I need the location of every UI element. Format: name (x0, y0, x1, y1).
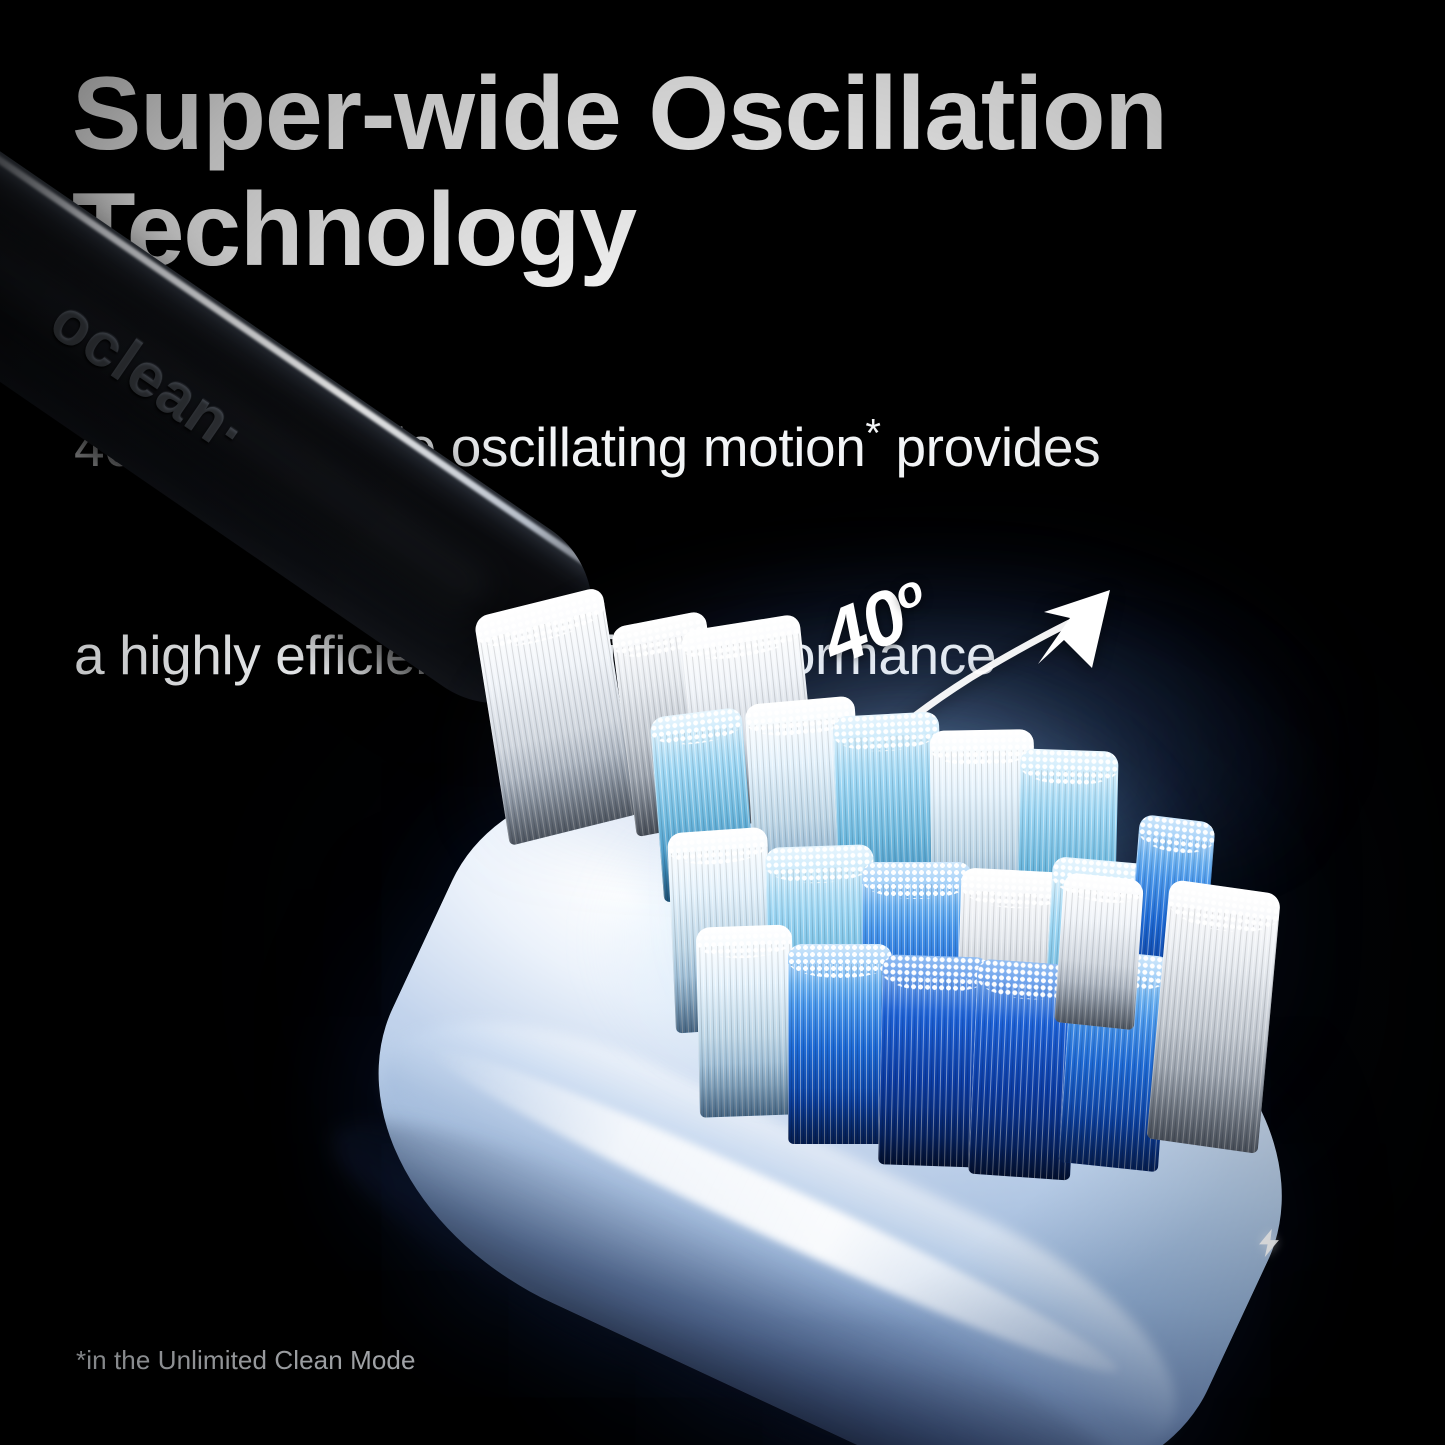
footnote-text: *in the Unlimited Clean Mode (76, 1345, 416, 1376)
bristle-tuft (1054, 872, 1144, 1030)
lightning-bolt-icon (1252, 1226, 1286, 1260)
subtitle-line-1-tail: provides (881, 416, 1101, 478)
bristle-shading (1147, 879, 1282, 1154)
bristle-shading (696, 924, 796, 1117)
bristle-tuft (696, 924, 796, 1117)
bristle-tuft (1147, 879, 1282, 1154)
footnote-marker: * (865, 412, 880, 456)
bristle-shading (1054, 872, 1144, 1030)
bristle-tuft (788, 944, 892, 1144)
bristle-shading (788, 944, 892, 1144)
product-feature-banner: Super-wide Oscillation Technology 40° su… (0, 0, 1445, 1445)
page-title: Super-wide Oscillation Technology (72, 56, 1282, 289)
